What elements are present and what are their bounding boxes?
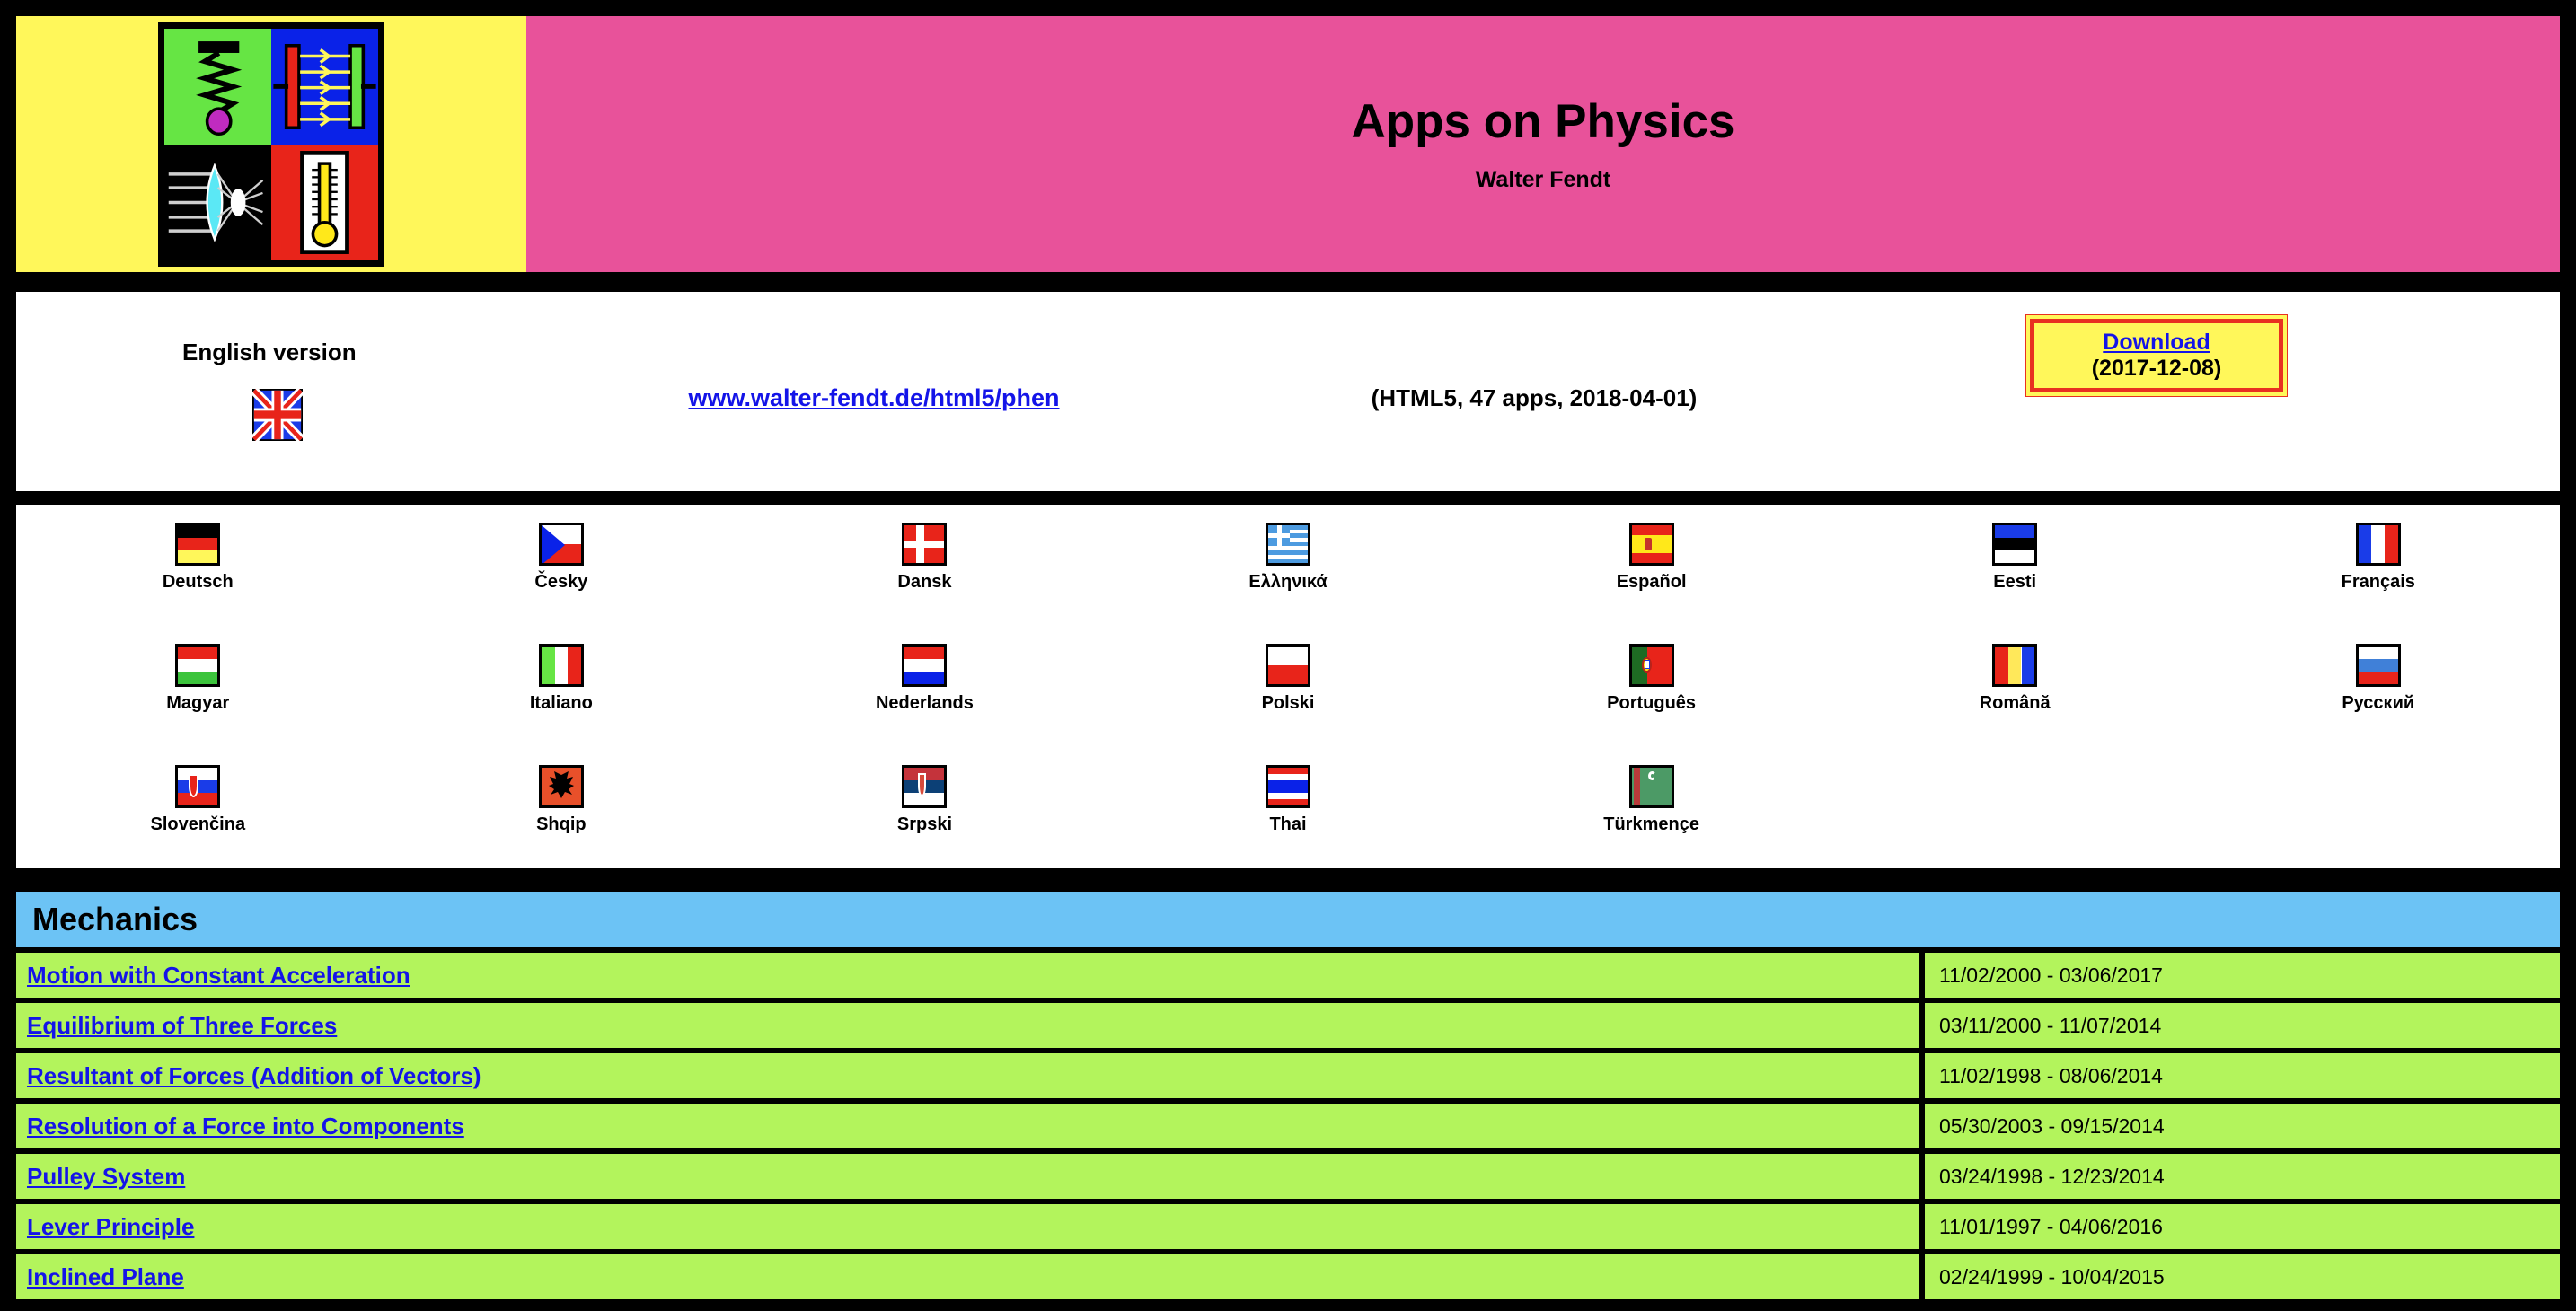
english-version-label: English version [182,339,357,366]
app-dates-cell: 11/02/1998 - 08/06/2014 [1925,1053,2560,1098]
language-label: Nederlands [876,693,974,714]
flag-thailand-icon [1266,765,1310,808]
language-item-russkiy[interactable]: Русский [2196,635,2560,756]
table-row: Equilibrium of Three Forces 03/11/2000 -… [16,1003,2560,1048]
app-name-cell: Inclined Plane [16,1254,1919,1299]
section-header-mechanics: Mechanics [16,892,2560,947]
page-title: Apps on Physics [1351,98,1734,145]
app-dates-cell: 02/24/1999 - 10/04/2015 [1925,1254,2560,1299]
language-label: Português [1607,693,1696,714]
language-label: Русский [2342,693,2414,714]
language-item-thai[interactable]: Thai [1107,756,1470,877]
language-label: Shqip [536,814,587,835]
download-link-label[interactable]: Download [2103,330,2210,356]
flag-greece-icon [1266,523,1310,566]
title-panel: Apps on Physics Walter Fendt [526,16,2560,272]
app-link[interactable]: Resultant of Forces (Addition of Vectors… [27,1062,481,1090]
app-link[interactable]: Motion with Constant Acceleration [27,962,410,990]
app-link[interactable]: Resolution of a Force into Components [27,1113,464,1140]
flag-portugal-icon [1629,644,1674,687]
physics-apps-logo-icon [158,22,384,267]
header-banner: Apps on Physics Walter Fendt [16,16,2560,272]
app-name-cell: Resolution of a Force into Components [16,1104,1919,1148]
app-name-cell: Resultant of Forces (Addition of Vectors… [16,1053,1919,1098]
app-link[interactable]: Inclined Plane [27,1263,184,1291]
language-label: Română [1980,693,2051,714]
language-label: Español [1617,572,1687,593]
page-root: Apps on Physics Walter Fendt English ver… [0,0,2576,1311]
language-item-empty [1833,756,2197,877]
mechanics-app-table: Motion with Constant Acceleration 11/02/… [16,953,2560,1305]
language-label: Dansk [897,572,951,593]
app-dates-cell: 11/02/2000 - 03/06/2017 [1925,953,2560,998]
flag-italy-icon [539,644,584,687]
flag-albania-icon [539,765,584,808]
app-dates-cell: 11/01/1997 - 04/06/2016 [1925,1204,2560,1249]
app-name-cell: Lever Principle [16,1204,1919,1249]
language-label: Italiano [530,693,593,714]
table-row: Motion with Constant Acceleration 11/02/… [16,953,2560,998]
logo-quadrant-thermometer-icon [271,145,378,260]
section-title: Mechanics [32,901,198,938]
flag-romania-icon [1992,644,2037,687]
table-row: Inclined Plane 02/24/1999 - 10/04/2015 [16,1254,2560,1299]
flag-russia-icon [2356,644,2401,687]
logo-panel [16,16,526,272]
language-label: Česky [534,572,587,593]
flag-spain-icon [1629,523,1674,566]
app-link[interactable]: Equilibrium of Three Forces [27,1012,337,1040]
language-item-cesky[interactable]: Česky [380,514,744,635]
app-dates-cell: 05/30/2003 - 09/15/2014 [1925,1104,2560,1148]
app-name-cell: Motion with Constant Acceleration [16,953,1919,998]
flag-germany-icon [175,523,220,566]
app-dates-cell: 03/24/1998 - 12/23/2014 [1925,1154,2560,1199]
language-row: Slovenčina Shqip Srpski [16,756,2560,877]
language-item-espanol[interactable]: Español [1469,514,1833,635]
language-item-srpski[interactable]: Srpski [743,756,1107,877]
table-row: Pulley System 03/24/1998 - 12/23/2014 [16,1154,2560,1199]
table-row: Resultant of Forces (Addition of Vectors… [16,1053,2560,1098]
html5-apps-meta: (HTML5, 47 apps, 2018-04-01) [1211,384,1857,412]
flag-hungary-icon [175,644,220,687]
language-item-nederlands[interactable]: Nederlands [743,635,1107,756]
language-label: Thai [1269,814,1306,835]
language-label: Deutsch [163,572,234,593]
site-url-link[interactable]: www.walter-fendt.de/html5/phen [560,384,1188,412]
language-item-polski[interactable]: Polski [1107,635,1470,756]
language-item-turkmence[interactable]: Türkmençe [1469,756,1833,877]
app-name-cell: Equilibrium of Three Forces [16,1003,1919,1048]
download-date-label: (2017-12-08) [2092,356,2222,383]
table-row: Lever Principle 11/01/1997 - 04/06/2016 [16,1204,2560,1249]
language-item-shqip[interactable]: Shqip [380,756,744,877]
language-item-eesti[interactable]: Eesti [1833,514,2197,635]
flag-france-icon [2356,523,2401,566]
language-label: Magyar [166,693,229,714]
language-item-italiano[interactable]: Italiano [380,635,744,756]
language-item-magyar[interactable]: Magyar [16,635,380,756]
logo-quadrant-lens-optics-icon [164,145,271,260]
language-label: Türkmençe [1603,814,1699,835]
language-label: Eesti [1993,572,2036,593]
language-item-slovencina[interactable]: Slovenčina [16,756,380,877]
flag-turkmenistan-icon [1629,765,1674,808]
logo-quadrant-capacitor-field-icon [271,29,378,145]
flag-poland-icon [1266,644,1310,687]
app-name-cell: Pulley System [16,1154,1919,1199]
download-button[interactable]: Download (2017-12-08) [2030,319,2283,392]
language-item-dansk[interactable]: Dansk [743,514,1107,635]
language-label: Slovenčina [150,814,245,835]
language-row: Deutsch Česky Dansk [16,514,2560,635]
app-link[interactable]: Pulley System [27,1163,185,1191]
logo-quadrant-spring-mass-icon [164,29,271,145]
app-dates-cell: 03/11/2000 - 11/07/2014 [1925,1003,2560,1048]
language-label: Polski [1262,693,1315,714]
table-row: Resolution of a Force into Components 05… [16,1104,2560,1148]
english-version-panel: English version www.walter-fendt.de/html… [16,292,2560,491]
flag-netherlands-icon [902,644,947,687]
flag-czech-republic-icon [539,523,584,566]
app-link[interactable]: Lever Principle [27,1213,194,1241]
language-selection-panel: Deutsch Česky Dansk [16,505,2560,868]
flag-united-kingdom-icon[interactable] [252,389,303,441]
flag-estonia-icon [1992,523,2037,566]
language-label: Ελληνικά [1248,572,1327,593]
language-item-portugues[interactable]: Português [1469,635,1833,756]
language-item-romana[interactable]: Română [1833,635,2197,756]
flag-serbia-icon [902,765,947,808]
language-label: Français [2342,572,2415,593]
language-item-empty [2196,756,2560,877]
language-label: Srpski [897,814,952,835]
flag-denmark-icon [902,523,947,566]
page-author: Walter Fendt [1476,169,1610,191]
language-row: Magyar Italiano Nederlands [16,635,2560,756]
flag-slovakia-icon [175,765,220,808]
language-item-francais[interactable]: Français [2196,514,2560,635]
language-item-deutsch[interactable]: Deutsch [16,514,380,635]
language-item-ellinika[interactable]: Ελληνικά [1107,514,1470,635]
